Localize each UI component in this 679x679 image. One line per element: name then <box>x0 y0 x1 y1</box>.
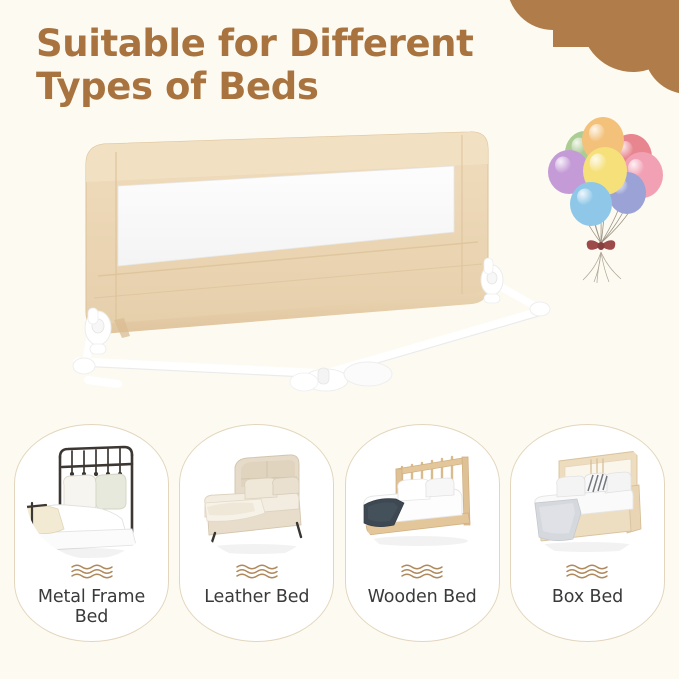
infographic-page: Suitable for Different Types of Beds <box>0 0 679 679</box>
bed-rail-product-image <box>26 112 566 402</box>
right-hinge-hardware <box>481 258 503 303</box>
bed-type-card-wooden-bed[interactable]: Wooden Bed <box>345 424 500 642</box>
wave-divider-icon <box>234 563 280 580</box>
wave-divider-icon <box>564 563 610 580</box>
bed-type-card-list: Metal Frame Bed <box>0 424 679 646</box>
cloud-icon <box>483 0 679 112</box>
wooden-bed-photo <box>356 433 488 559</box>
bed-type-label: Metal Frame Bed <box>22 587 162 628</box>
page-title: Suitable for Different Types of Beds <box>36 22 506 109</box>
bed-type-label: Leather Bed <box>187 587 327 607</box>
left-foot-joint <box>73 358 95 374</box>
wave-divider-icon <box>399 563 445 580</box>
box-bed-photo <box>521 433 653 559</box>
bed-type-label: Box Bed <box>517 587 657 607</box>
bed-type-card-box-bed[interactable]: Box Bed <box>510 424 665 642</box>
metal-frame-bed-photo <box>26 433 158 559</box>
wave-divider-icon <box>69 563 115 580</box>
title-line-1: Suitable for Different <box>36 22 506 65</box>
cloud-decoration <box>483 0 679 112</box>
title-line-2: Types of Beds <box>36 65 506 108</box>
bed-type-label: Wooden Bed <box>352 587 492 607</box>
bed-type-card-leather-bed[interactable]: Leather Bed <box>179 424 334 642</box>
bed-type-card-metal-frame-bed[interactable]: Metal Frame Bed <box>14 424 169 642</box>
bed-rail-illustration <box>26 112 566 402</box>
right-foot-joint <box>530 302 550 316</box>
leather-bed-photo <box>191 433 323 559</box>
